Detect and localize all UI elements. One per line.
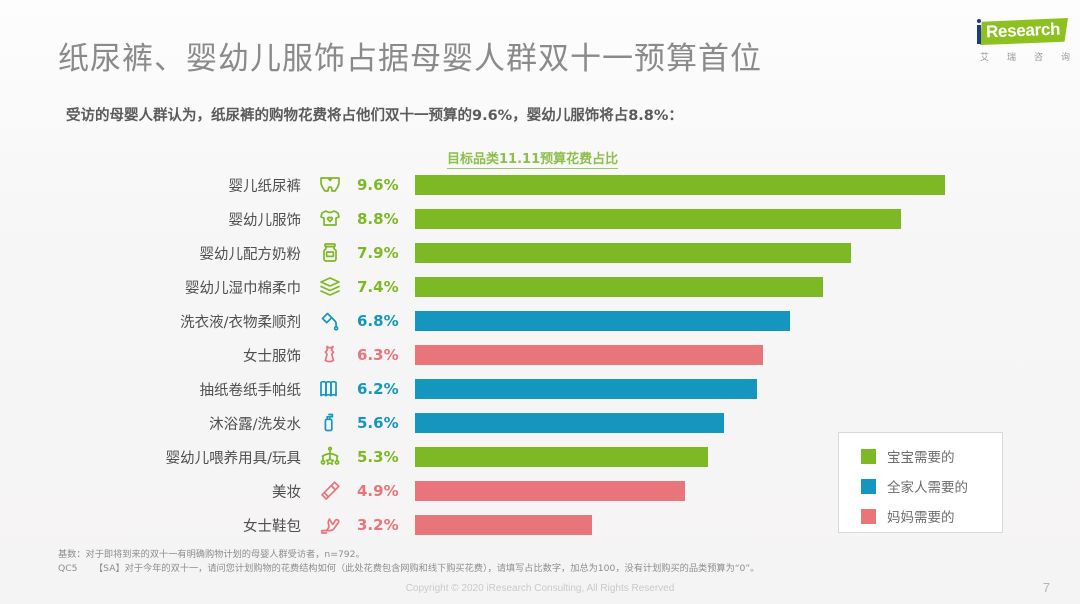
legend-item-mom[interactable]: 妈妈需要的 — [861, 506, 1002, 526]
bar — [415, 515, 592, 535]
category-label: 婴幼儿服饰 — [16, 209, 311, 230]
value-label: 5.3% — [349, 448, 415, 466]
copyright-text: Copyright © 2020 iResearch Consulting, A… — [0, 583, 1080, 594]
diaper-icon — [311, 173, 349, 197]
bar-track — [415, 372, 1080, 406]
chart-legend: 宝宝需要的全家人需要的妈妈需要的 — [838, 432, 1003, 533]
category-label: 沐浴露/洗发水 — [16, 413, 311, 434]
lipstick-icon — [311, 479, 349, 503]
logo-mark: Research — [962, 18, 1070, 48]
chart-row: 洗衣液/衣物柔顺剂6.8% — [0, 304, 1080, 338]
legend-label: 宝宝需要的 — [887, 446, 955, 466]
baby-mobile-toy-icon — [311, 445, 349, 469]
chart-row: 抽纸卷纸手帕纸6.2% — [0, 372, 1080, 406]
value-label: 7.4% — [349, 278, 415, 296]
bar — [415, 345, 763, 365]
category-label: 婴幼儿配方奶粉 — [16, 243, 311, 264]
chart-title: 目标品类11.11预算花费占比 — [447, 148, 618, 169]
legend-item-baby[interactable]: 宝宝需要的 — [861, 446, 1002, 466]
bar — [415, 243, 851, 263]
value-label: 6.8% — [349, 312, 415, 330]
category-label: 婴幼儿湿巾棉柔巾 — [16, 277, 311, 298]
page-title: 纸尿裤、婴幼儿服饰占据母婴人群双十一预算首位 — [58, 33, 762, 78]
detergent-bottle-icon — [311, 309, 349, 333]
legend-label: 妈妈需要的 — [887, 506, 955, 526]
value-label: 8.8% — [349, 210, 415, 228]
bar — [415, 277, 823, 297]
value-label: 9.6% — [349, 176, 415, 194]
legend-swatch-icon — [861, 509, 876, 524]
chart-row: 女士服饰6.3% — [0, 338, 1080, 372]
value-label: 3.2% — [349, 516, 415, 534]
formula-jar-icon — [311, 241, 349, 265]
category-label: 女士服饰 — [16, 345, 311, 366]
category-label: 抽纸卷纸手帕纸 — [16, 379, 311, 400]
logo-chinese-name: 艾 瑞 咨 询 — [980, 50, 1070, 63]
value-label: 5.6% — [349, 414, 415, 432]
bar-track — [415, 168, 1080, 202]
wipes-stack-icon — [311, 275, 349, 299]
legend-swatch-icon — [861, 449, 876, 464]
shampoo-bottle-icon — [311, 411, 349, 435]
bar — [415, 413, 724, 433]
category-label: 婴儿纸尿裤 — [16, 175, 311, 196]
chart-row: 婴幼儿配方奶粉7.9% — [0, 236, 1080, 270]
bar-track — [415, 338, 1080, 372]
tissue-paper-icon — [311, 377, 349, 401]
slide-canvas: Research 艾 瑞 咨 询 纸尿裤、婴幼儿服饰占据母婴人群双十一预算首位 … — [0, 0, 1080, 604]
high-heel-icon — [311, 513, 349, 537]
bar — [415, 209, 901, 229]
logo-cn-char-2: 瑞 — [1007, 50, 1016, 63]
legend-label: 全家人需要的 — [887, 476, 968, 496]
onesie-icon — [311, 207, 349, 231]
bar — [415, 481, 685, 501]
bar — [415, 379, 757, 399]
logo-i-stem-icon — [977, 25, 981, 44]
logo-cn-char-3: 咨 — [1034, 50, 1043, 63]
footnote-question-text: 【SA】对于今年的双十一，请问您计划购物的花费结构如何（此处花费包含网购和线下购… — [94, 563, 759, 574]
chart-row: 婴儿纸尿裤9.6% — [0, 168, 1080, 202]
dress-icon — [311, 343, 349, 367]
value-label: 6.2% — [349, 380, 415, 398]
legend-item-family[interactable]: 全家人需要的 — [861, 476, 1002, 496]
footnote-question: QC5【SA】对于今年的双十一，请问您计划购物的花费结构如何（此处花费包含网购和… — [58, 562, 759, 576]
logo-i-dot-icon — [977, 19, 981, 23]
logo-brand-text: Research — [986, 20, 1061, 43]
bar-track — [415, 270, 1080, 304]
value-label: 4.9% — [349, 482, 415, 500]
iresearch-logo: Research 艾 瑞 咨 询 — [962, 18, 1070, 68]
footnote-base: 基数：对于即将到来的双十一有明确购物计划的母婴人群受访者，n=792。 — [58, 548, 759, 562]
bar — [415, 447, 708, 467]
bar-track — [415, 202, 1080, 236]
footnotes: 基数：对于即将到来的双十一有明确购物计划的母婴人群受访者，n=792。 QC5【… — [58, 548, 759, 576]
page-subtitle: 受访的母婴人群认为，纸尿裤的购物花费将占他们双十一预算的9.6%，婴幼儿服饰将占… — [66, 104, 683, 125]
value-label: 7.9% — [349, 244, 415, 262]
chart-row: 婴幼儿湿巾棉柔巾7.4% — [0, 270, 1080, 304]
category-label: 洗衣液/衣物柔顺剂 — [16, 311, 311, 332]
category-label: 婴幼儿喂养用具/玩具 — [16, 447, 311, 468]
bar — [415, 175, 945, 195]
category-label: 女士鞋包 — [16, 515, 311, 536]
legend-swatch-icon — [861, 479, 876, 494]
value-label: 6.3% — [349, 346, 415, 364]
chart-row: 婴幼儿服饰8.8% — [0, 202, 1080, 236]
logo-cn-char-4: 询 — [1061, 50, 1070, 63]
footnote-question-code: QC5 — [58, 562, 94, 576]
logo-cn-char-1: 艾 — [980, 50, 989, 63]
bar-track — [415, 236, 1080, 270]
category-label: 美妆 — [16, 481, 311, 502]
page-number: 7 — [1043, 580, 1050, 595]
bar-track — [415, 304, 1080, 338]
bar — [415, 311, 790, 331]
